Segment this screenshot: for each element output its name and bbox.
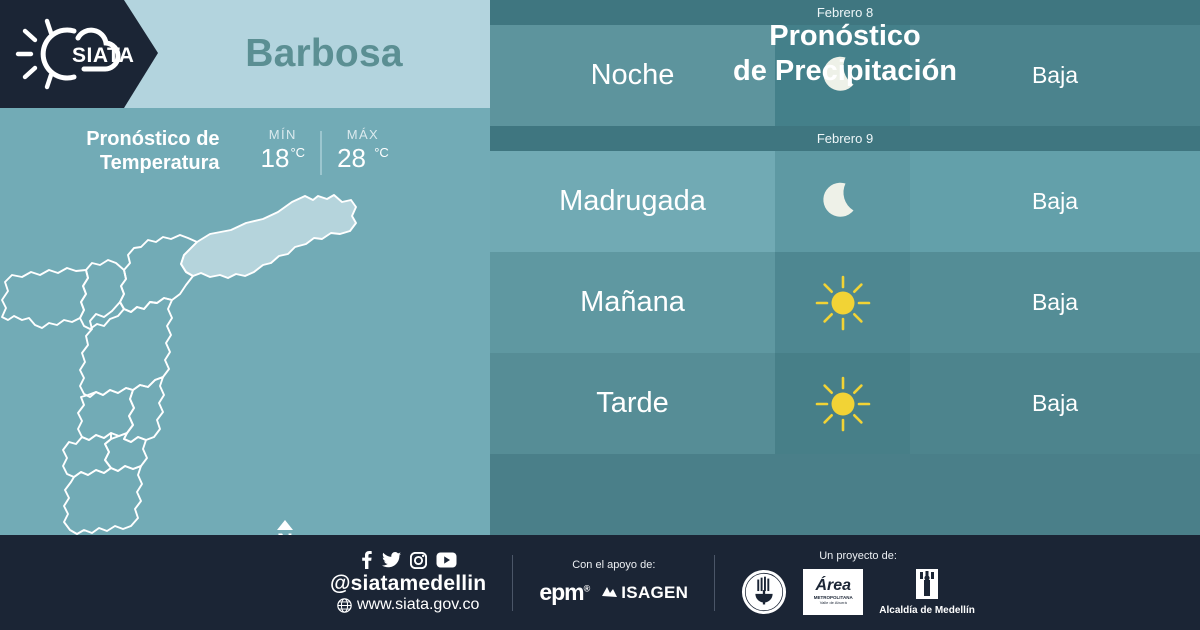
isagen-mark-icon [601,585,618,600]
area-sub2: Valle de Aburrá [820,601,847,605]
max-label: MÁX [337,127,389,142]
alcaldia-label: Alcaldía de Medellín [879,605,975,616]
period-label: Tarde [490,353,775,454]
date-band-february-9: Febrero 9 [490,126,1200,151]
city-name: Barbosa [158,0,490,108]
temperature-values: MÍN 18°C MÁX 28 °C [246,127,404,175]
social-handle[interactable]: @siatamedellin [330,572,486,596]
right-panel: Pronóstico de Precipitación Febrero 8 No… [490,0,1200,535]
map-region-itagui [78,388,134,440]
forecast-row-tarde: Tarde Baja [490,353,1200,454]
max-value: 28 [337,143,366,173]
footer-divider-2 [714,555,715,611]
alcaldia-crest-icon [914,568,940,602]
isagen-label: ISAGEN [621,583,688,603]
weather-forecast-infographic: SIATA Barbosa Pronóstico de Temperatura … [0,0,1200,630]
forecast-title-line2: de Precipitación [733,54,957,89]
epm-logo: epm® [539,579,589,606]
support-logos: epm® ISAGEN [539,579,688,606]
temperature-title: Pronóstico de Temperatura [86,127,219,176]
sun-glyph [813,374,873,434]
twitter-icon[interactable] [382,551,401,569]
map-svg [0,190,490,535]
max-value-group: 28 °C [337,143,389,173]
website-row[interactable]: www.siata.gov.co [330,596,486,614]
left-header: SIATA Barbosa [0,0,490,108]
forecast-row-madrugada: Madrugada Baja [490,151,1200,252]
social-icons [330,551,486,569]
youtube-icon[interactable] [436,552,457,568]
min-unit: °C [290,145,305,160]
globe-icon [337,598,352,613]
sun-icon [775,353,910,454]
alcaldia-medellin-logo: Alcaldía de Medellín [879,568,975,616]
max-unit: °C [374,145,389,160]
epm-mark: ® [584,583,590,593]
footer-divider-1 [512,555,513,611]
map-region-medellin [80,298,172,397]
website-text: www.siata.gov.co [357,596,479,614]
siata-logo-banner: SIATA [0,0,158,108]
isagen-logo: ISAGEN [601,583,688,603]
precipitation-level: Baja [910,252,1200,353]
project-block: Un proyecto de: Área MET [741,550,975,616]
temperature-title-line1: Pronóstico de [86,128,219,150]
map-region-girardota [120,235,197,312]
epm-label: epm [539,579,583,605]
area-name: Área [815,578,851,594]
instagram-icon[interactable] [410,552,427,569]
project-logos: Área METROPOLITANA Valle de Aburrá [741,568,975,616]
period-label: Madrugada [490,151,775,252]
map-region-caldas [64,466,142,534]
temperature-min: MÍN 18°C [246,127,321,174]
temperature-forecast-block: Pronóstico de Temperatura MÍN 18°C MÁX 2… [0,108,490,194]
precipitation-level: Baja [910,151,1200,252]
siata-logo-text: SIATA [72,44,134,67]
precipitation-forecast-header: Pronóstico de Precipitación [490,0,1200,108]
forecast-row-manana: Mañana Baja [490,252,1200,353]
map-region-envigado [124,377,164,442]
support-caption: Con el apoyo de: [539,559,688,571]
moon-icon [775,151,910,252]
temperature-max: MÁX 28 °C [322,127,404,174]
support-block: Con el apoyo de: epm® ISAGEN [539,559,688,606]
sun-icon [775,252,910,353]
facebook-icon[interactable] [360,551,373,569]
area-metropolitana-logo: Área METROPOLITANA Valle de Aburrá [803,569,863,615]
valle-de-aburra-map: N [0,190,490,535]
forecast-title-line1: Pronóstico [769,19,920,54]
min-value: 18 [261,143,290,173]
moon-glyph [815,174,871,230]
sun-glyph [813,273,873,333]
min-value-group: 18°C [261,143,306,173]
min-label: MÍN [261,127,306,142]
footer: @siatamedellin www.siata.gov.co Con el a… [0,535,1200,630]
temperature-title-line2: Temperatura [100,152,220,174]
siata-logo-icon: SIATA [14,16,144,92]
map-region-barbosa [181,195,356,278]
project-caption: Un proyecto de: [741,550,975,562]
map-region-bello [2,268,88,328]
precipitation-level: Baja [910,353,1200,454]
period-label: Mañana [490,252,775,353]
left-panel: SIATA Barbosa Pronóstico de Temperatura … [0,0,490,535]
universidad-seal-icon [741,569,787,615]
map-region-la-estrella [63,433,111,477]
social-block: @siatamedellin www.siata.gov.co [330,551,486,614]
